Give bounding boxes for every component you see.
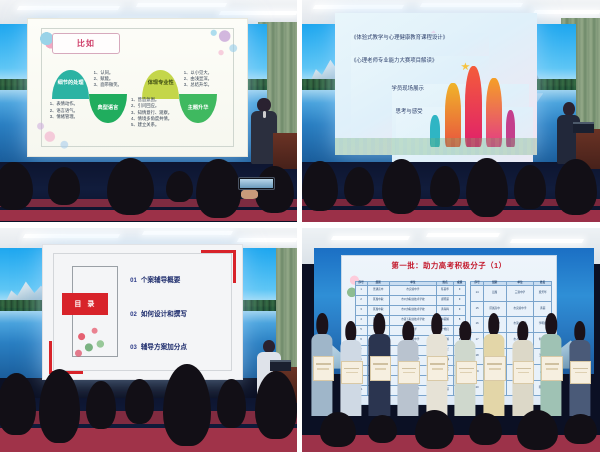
microphone-icon <box>263 111 266 118</box>
certificate <box>541 356 562 381</box>
awardee-figure <box>537 313 566 416</box>
photo-panel-bottom-right: 第一批：助力高考积极分子（1） 序号 组别 单位 姓名 成绩 1普通高中市实验中… <box>302 228 600 452</box>
agenda-number-1: 01 <box>130 278 137 284</box>
certificate <box>370 356 391 381</box>
agenda-item-3: 03 辅导方案加分点 <box>130 341 187 351</box>
certificate <box>570 361 591 384</box>
audience-area <box>0 358 297 452</box>
table-row: 2区属中职市公办职业技术学校郑晓丽9 <box>355 295 466 305</box>
board-title: 第一批：助力高考积极分子（1） <box>342 260 557 271</box>
awardee-head <box>345 321 356 342</box>
awardee-row <box>308 313 594 416</box>
table-cell: 2 <box>355 295 367 305</box>
awardee-head <box>431 313 442 336</box>
agenda-text-2: 如何设计和撰写 <box>141 308 187 318</box>
certificate <box>341 361 362 384</box>
corner-decoration-top-right <box>201 250 236 283</box>
agenda-item-1: 01 个案辅导概要 <box>130 274 180 284</box>
table-cell: 区属中职 <box>367 295 389 305</box>
certificate <box>484 356 505 381</box>
awardee-head <box>517 321 528 342</box>
agenda-number-3: 03 <box>130 345 137 351</box>
agenda-text-1: 个案辅导概要 <box>141 274 181 284</box>
certificate <box>313 356 334 381</box>
table-cell: 郑晓丽 <box>437 295 454 305</box>
photo-panel-top-right: 《体验式教学与心理健康教育课程设计》 《心理老师专业能力大赛项目解读》 学员现场… <box>302 0 600 222</box>
agenda-item-2: 02 如何设计和撰写 <box>130 308 187 318</box>
slide-title: 比如 <box>77 38 95 49</box>
table-cell: 9 <box>454 295 466 305</box>
bullet-block-1: 1、表情动作。 2、语言语气。 3、情绪管理。 <box>50 101 78 120</box>
awardee-figure <box>308 313 337 416</box>
table-cell: 三源中学 <box>506 285 534 301</box>
table-cell: 陈丽华 <box>437 285 454 295</box>
agenda-number-2: 02 <box>130 312 137 318</box>
contents-tag: 目 录 <box>62 293 108 315</box>
awardee-head <box>374 313 385 336</box>
hand-holding-phone <box>241 189 259 200</box>
photo-collage: 比如 细节的处理 典型语言 体现专业性 主题升华 1、表情动作。 2、语言语气。… <box>0 0 600 452</box>
awardee-head <box>488 313 499 336</box>
table-cell: 普通高中 <box>367 285 389 295</box>
table-cell: 14 <box>471 285 483 301</box>
certificate <box>398 361 419 384</box>
awardee-head <box>460 321 471 342</box>
table-cell: 市公办职业技术学校 <box>389 295 436 305</box>
group-label-4: 主题升华 <box>188 106 209 112</box>
awardee-head <box>317 313 328 336</box>
table-row: 14县属三源中学梁芳华 <box>471 285 552 301</box>
awardee-figure <box>365 313 394 416</box>
slide-title-box: 比如 <box>52 33 120 54</box>
audience-area <box>0 155 297 222</box>
awardee-head <box>545 313 556 336</box>
table-cell: 县属 <box>483 285 506 301</box>
table-cell: 9 <box>454 285 466 295</box>
laptop-icon <box>573 122 594 133</box>
front-audience-area <box>302 403 600 452</box>
bullet-block-3: 1、营造氛围。 2、引问回应。 3、知情意行、观察。 4、情境多角度共情。 5、… <box>131 97 172 128</box>
photo-panel-bottom-left: 目 录 01 个案辅导概要 02 如何设计和撰写 03 辅导方案加分点 <box>0 228 297 452</box>
awardee-figure <box>422 313 451 416</box>
table-cell: 1 <box>355 285 367 295</box>
runner-silhouettes-graphic <box>428 59 525 147</box>
group-label-3: 体现专业性 <box>148 81 174 87</box>
photo-panel-top-left: 比如 细节的处理 典型语言 体现专业性 主题升华 1、表情动作。 2、语言语气。… <box>0 0 297 222</box>
table-cell: 梁芳华 <box>534 285 552 301</box>
table-row: 1普通高中市实验中学陈丽华9 <box>355 285 466 295</box>
awardee-figure <box>480 313 509 416</box>
agenda-text-3: 辅导方案加分点 <box>141 341 187 351</box>
bullet-block-4: 1、以小见大。 2、由浅显深。 3、总结升华。 <box>184 70 212 89</box>
certificate <box>456 361 477 384</box>
slide-ground-strip <box>335 138 538 155</box>
certificate <box>427 356 448 381</box>
certificate <box>513 361 534 384</box>
audience-area <box>302 155 600 222</box>
smartphone-screen <box>238 177 276 190</box>
awardee-head <box>574 321 585 342</box>
group-label-1: 细节的处理 <box>58 81 84 87</box>
awardee-head <box>402 321 413 342</box>
slide-panel-2: 《体验式教学与心理健康教育课程设计》 《心理老师专业能力大赛项目解读》 学员现场… <box>335 13 538 155</box>
group-label-2: 典型语言 <box>98 106 119 112</box>
bullet-block-2: 1、认同。 2、赋能。 3、面带微笑。 <box>94 70 122 89</box>
table-cell: 市实验中学 <box>389 285 436 295</box>
slide-panel-1: 比如 细节的处理 典型语言 体现专业性 主题升华 1、表情动作。 2、语言语气。… <box>27 18 249 158</box>
